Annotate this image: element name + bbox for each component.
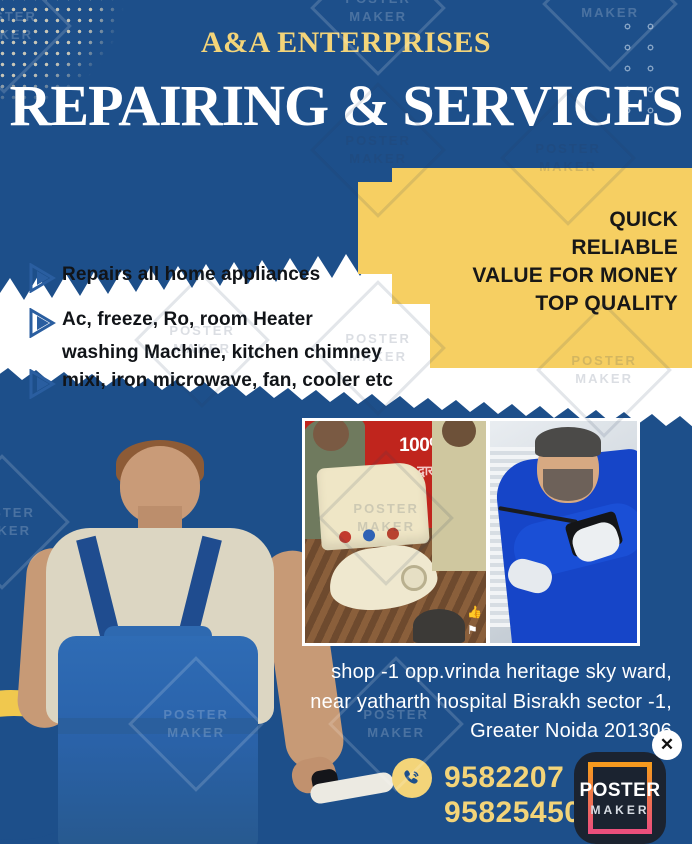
cooler-motor <box>413 609 465 643</box>
value-prop-item: VALUE FOR MONEY <box>472 262 678 290</box>
photo-right-technician-beard <box>543 469 593 501</box>
photo-gallery: 100% द्वार 👍⚑ <box>302 418 640 646</box>
list-item: Repairs all home appliances <box>28 262 478 293</box>
list-item: mixi, iron microwave, fan, cooler etc <box>28 368 478 399</box>
service-label: Repairs all home appliances <box>62 262 320 288</box>
phone-ring-icon <box>392 758 432 798</box>
phone-number-1[interactable]: 9582207 <box>444 761 564 795</box>
photo-appliance-repair: 100% द्वार 👍⚑ <box>305 421 486 643</box>
cooler-fan-icon <box>401 565 427 591</box>
badge-text-wrap: POSTER MAKER <box>579 780 660 817</box>
page-title: REPAIRING & SERVICES <box>0 72 692 139</box>
list-item: Ac, freeze, Ro, room Heater <box>28 307 478 338</box>
double-arrow-bullet-icon <box>28 369 62 399</box>
service-label: Ac, freeze, Ro, room Heater <box>62 307 313 333</box>
brand-name: A&A ENTERPRISES <box>0 26 692 60</box>
cooler-knob-blue <box>363 529 376 542</box>
photo-right-technician-hair <box>535 427 601 457</box>
worker-overall-waistband <box>58 718 258 734</box>
service-sublabel: washing Machine, kitchen chimney <box>62 340 478 366</box>
worker-photo-cutout <box>16 440 316 844</box>
service-label: mixi, iron microwave, fan, cooler etc <box>62 368 393 394</box>
poster-canvas: A&A ENTERPRISES REPAIRING & SERVICES Rep… <box>0 0 692 844</box>
cooler-knob-red <box>339 531 352 544</box>
poster-maker-badge[interactable]: POSTER MAKER <box>574 752 666 844</box>
photo-left-overlay-icons: 👍⚑ <box>467 603 482 639</box>
value-props-list: QUICK RELIABLE VALUE FOR MONEY TOP QUALI… <box>472 206 678 318</box>
close-icon[interactable]: ✕ <box>652 730 682 760</box>
double-arrow-bullet-icon <box>28 263 62 293</box>
address-block: shop -1 opp.vrinda heritage sky ward, ne… <box>232 658 672 747</box>
photo-ac-service <box>490 421 637 643</box>
phone-row-primary: 9582207 <box>392 758 599 798</box>
address-line-1: shop -1 opp.vrinda heritage sky ward, <box>232 658 672 688</box>
double-arrow-bullet-icon <box>28 308 62 338</box>
value-prop-item: RELIABLE <box>472 234 678 262</box>
badge-title: POSTER <box>579 780 660 802</box>
value-prop-item: QUICK <box>472 206 678 234</box>
contact-block: 9582207 958254504 <box>392 758 599 830</box>
value-prop-item: TOP QUALITY <box>472 290 678 318</box>
address-line-2: near yatharth hospital Bisrakh sector -1… <box>232 688 672 718</box>
address-line-3: Greater Noida 201306 <box>232 717 672 747</box>
badge-subtitle: MAKER <box>579 803 660 817</box>
services-list: Repairs all home appliances Ac, freeze, … <box>28 262 478 413</box>
cooler-knob-orange <box>387 527 400 540</box>
worker-overall-trousers <box>58 636 258 844</box>
air-cooler-unit <box>316 461 429 550</box>
